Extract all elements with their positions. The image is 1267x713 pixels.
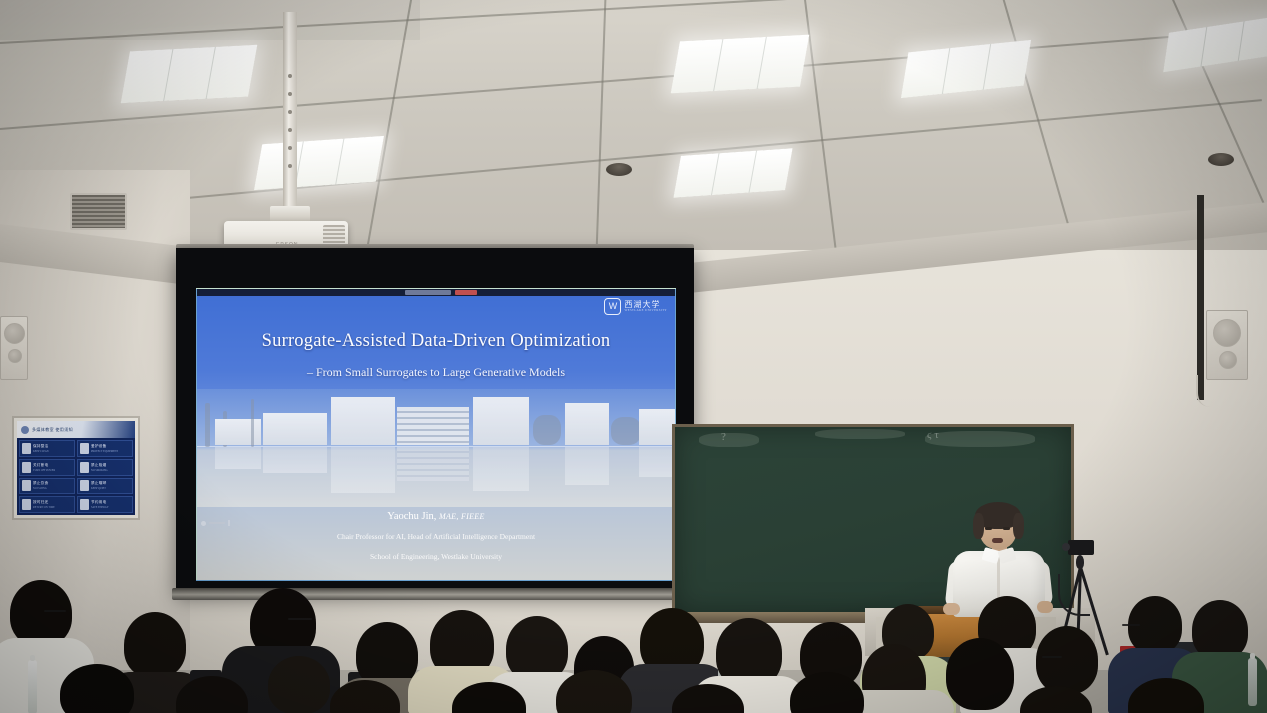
ceiling-light-panel [121,45,258,104]
slide-speaker-credentials: MAE, FIEEE [439,512,485,521]
westlake-logo-mark-icon: W [604,298,621,315]
sign-cell: 爱护设备PROTECT EQUIPMENT [77,440,133,457]
projector-mount-pole [283,12,297,208]
presenter-mouth [992,538,1003,543]
presenter-eye-left [985,527,992,530]
wall-speaker-icon [0,316,28,380]
slide-speaker-name: Yaochu Jin, MAE, FIEEE [197,511,675,522]
audience-head [946,638,1014,710]
sign-cell: 禁止喧哗KEEP QUIET [77,478,133,495]
sign-cell: 关灯断电TURN OFF POWER [19,459,75,476]
slide-affiliation-line-1: Chair Professor for AI, Head of Artifici… [197,532,675,541]
lecture-hall-photo: 多媒体教室 使用须知 保持整洁KEEP CLEAN 爱护设备PROTECT EQ… [0,0,1267,713]
eyeglasses-icon [1122,624,1140,626]
pictogram-icon [22,443,31,454]
audience-head [60,664,134,713]
sign-cell: 禁止吸烟NO SMOKING [77,459,133,476]
progress-bar [209,522,225,524]
slide-title: Surrogate-Assisted Data-Driven Optimizat… [197,331,675,352]
wall-speaker-icon [1206,310,1248,380]
presenter-eye-right [1003,527,1010,530]
sign-header: 多媒体教室 使用须知 [17,421,135,438]
slide-taskbar-strip [197,289,675,296]
progress-tick-icon [228,520,230,526]
sign-cell-grid: 保持整洁KEEP CLEAN 爱护设备PROTECT EQUIPMENT 关灯断… [17,438,135,515]
classroom-rules-sign: 多媒体教室 使用须知 保持整洁KEEP CLEAN 爱护设备PROTECT EQ… [12,416,140,520]
chalk-mark: ϛ τ [927,429,939,441]
audience [0,560,1267,713]
ceiling-light-panel [254,136,384,190]
logo-name-en: WESTLAKE UNIVERSITY [624,309,667,312]
taskbar-item [455,290,477,295]
pictogram-icon [80,499,89,510]
eyeglasses-icon [44,610,66,612]
chalk-mark: ? [721,431,726,443]
eyeglasses-icon [1042,656,1062,658]
wall-conduit [1197,195,1204,400]
taskbar-item [405,290,451,295]
ceiling-light-panel [671,35,810,94]
smoke-detector-icon [1208,153,1234,166]
audience-head [124,612,186,678]
audience-head [268,656,330,713]
sign-cell: 节约用电SAVE ENERGY [77,496,133,513]
pictogram-icon [80,480,89,491]
sign-logo-icon [21,426,29,434]
progress-dot-icon [201,521,206,526]
sign-cell: 保持整洁KEEP CLEAN [19,440,75,457]
presenter-hair-side-right [1013,513,1024,539]
westlake-university-logo: W 西湖大学 WESTLAKE UNIVERSITY [604,298,667,315]
video-camera-icon [1068,540,1094,555]
ceiling-light-panel [1163,16,1267,72]
campus-photo-band [197,389,675,507]
pictogram-icon [22,462,31,473]
slide-subtitle: – From Small Surrogates to Large Generat… [197,365,675,380]
ceiling-light-panel [673,148,792,198]
sign-cell: 按时归还RETURN ON TIME [19,496,75,513]
sign-header-text: 多媒体教室 使用须知 [32,427,73,433]
air-vent-icon [70,193,127,230]
sign-cell: 禁止饮食NO EATING [19,478,75,495]
pictogram-icon [22,480,31,491]
audience-head [1036,626,1098,694]
eyeglasses-icon [288,618,312,620]
presenter-hair-side-left [973,513,984,539]
audience-head [10,580,72,646]
smoke-detector-icon [606,163,632,176]
pictogram-icon [80,462,89,473]
presentation-slide: W 西湖大学 WESTLAKE UNIVERSITY Surrogate-Ass… [196,288,676,581]
water-bottle [28,660,37,713]
ceiling-light-panel [901,40,1031,98]
pictogram-icon [22,499,31,510]
slide-progress-indicator [201,520,230,526]
pictogram-icon [80,443,89,454]
audience-head [1192,600,1248,660]
water-bottle [1248,658,1257,706]
